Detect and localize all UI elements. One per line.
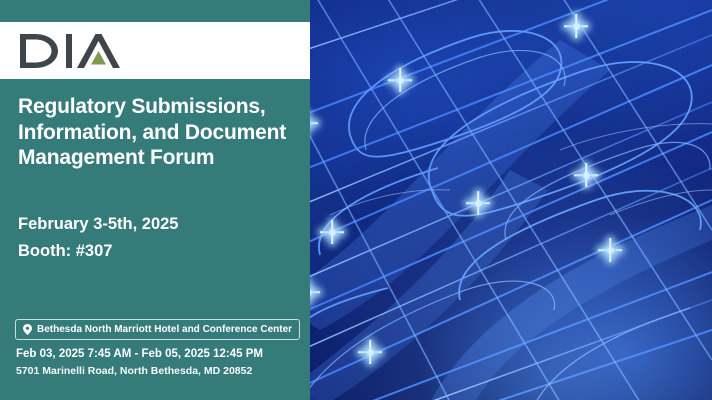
event-banner: Regulatory Submissions, Information, and… xyxy=(0,0,712,400)
event-address: 5701 Marinelli Road, North Bethesda, MD … xyxy=(16,363,306,380)
event-dates: February 3-5th, 2025 xyxy=(18,211,303,238)
event-schedule: Feb 03, 2025 7:45 AM - Feb 05, 2025 12:4… xyxy=(16,346,306,363)
event-dates-block: February 3-5th, 2025 Booth: #307 xyxy=(18,211,303,264)
event-title: Regulatory Submissions, Information, and… xyxy=(18,94,303,171)
event-meta: Feb 03, 2025 7:45 AM - Feb 05, 2025 12:4… xyxy=(16,346,306,380)
location-pin-icon xyxy=(23,324,32,335)
venue-name: Bethesda North Marriott Hotel and Confer… xyxy=(37,324,292,335)
circuit-artwork xyxy=(310,0,712,400)
info-panel: Regulatory Submissions, Information, and… xyxy=(0,0,310,400)
logo-band xyxy=(0,22,310,79)
booth-number: Booth: #307 xyxy=(18,238,303,265)
green-triangle-icon xyxy=(91,51,106,65)
artwork-glow-haze xyxy=(310,0,712,400)
dia-logo xyxy=(16,29,138,73)
venue-badge: Bethesda North Marriott Hotel and Confer… xyxy=(15,319,300,340)
